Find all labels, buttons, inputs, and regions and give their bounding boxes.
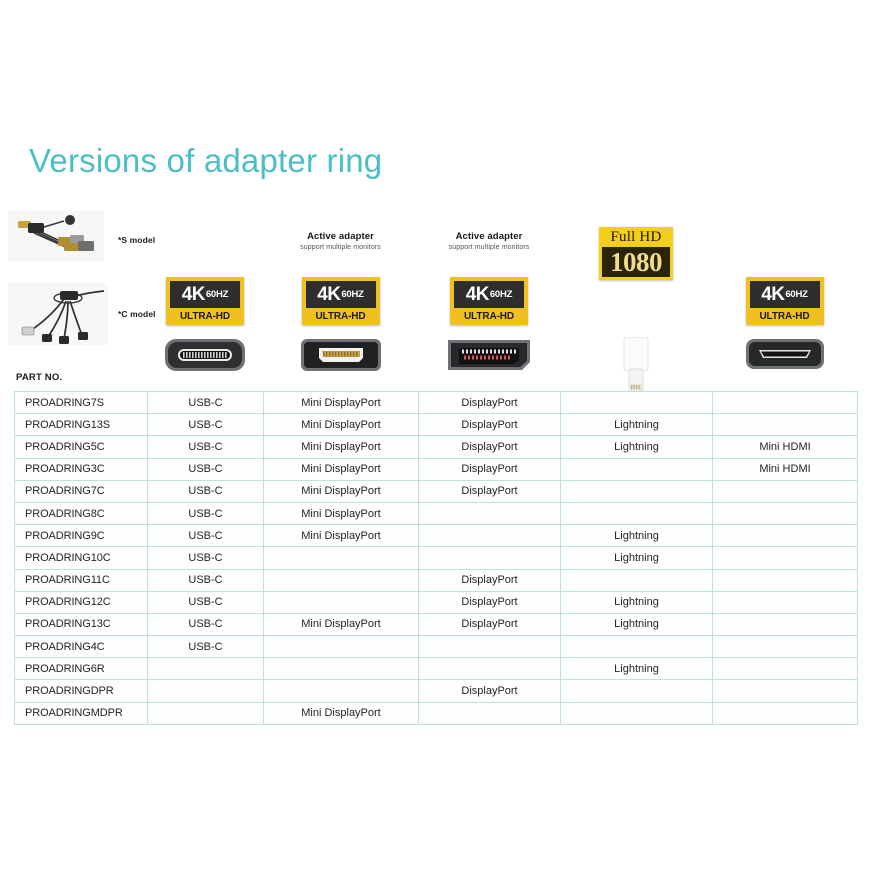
table-cell-dp: DisplayPort: [419, 392, 561, 414]
badge-4k-big: 4K: [317, 285, 340, 304]
table-cell-minihdmi: [713, 480, 858, 502]
table-cell-mdp: Mini DisplayPort: [264, 436, 419, 458]
part-no-header-label: PART NO.: [16, 372, 62, 383]
table-cell-usbc: [148, 702, 264, 724]
table-cell-usbc: USB-C: [148, 569, 264, 591]
table-cell-mdp: Mini DisplayPort: [264, 525, 419, 547]
mini-hdmi-connector-icon: [745, 337, 825, 371]
table-cell-dp: [419, 658, 561, 680]
table-cell-lightning: Lightning: [561, 525, 713, 547]
table-cell-minihdmi: [713, 591, 858, 613]
active-adapter-title-mdp: Active adapter: [263, 231, 418, 242]
badge-ultrahd-label: ULTRA-HD: [170, 308, 240, 325]
table-cell-lightning: [561, 680, 713, 702]
table-cell-lightning: Lightning: [561, 547, 713, 569]
badge-4k-hz: 60HZ: [489, 290, 512, 300]
table-cell-part: PROADRING5C: [15, 436, 148, 458]
table-cell-minihdmi: [713, 547, 858, 569]
table-row: PROADRING3CUSB-CMini DisplayPortDisplayP…: [15, 458, 858, 480]
table-cell-lightning: Lightning: [561, 613, 713, 635]
badge-4k-big: 4K: [182, 285, 205, 304]
table-cell-lightning: Lightning: [561, 436, 713, 458]
table-cell-minihdmi: Mini HDMI: [713, 436, 858, 458]
table-cell-lightning: Lightning: [561, 591, 713, 613]
table-cell-part: PROADRING9C: [15, 525, 148, 547]
table-cell-mdp: Mini DisplayPort: [264, 414, 419, 436]
table-cell-lightning: [561, 392, 713, 414]
table-cell-lightning: [561, 480, 713, 502]
table-cell-dp: DisplayPort: [419, 591, 561, 613]
table-row: PROADRING13CUSB-CMini DisplayPortDisplay…: [15, 613, 858, 635]
table-cell-mdp: [264, 569, 419, 591]
table-cell-minihdmi: [713, 658, 858, 680]
table-cell-dp: DisplayPort: [419, 480, 561, 502]
table-cell-mdp: Mini DisplayPort: [264, 480, 419, 502]
table-cell-mdp: Mini DisplayPort: [264, 392, 419, 414]
badge-4k-ultrahd-dp: 4K60HZ ULTRA-HD: [450, 277, 528, 325]
active-adapter-title-dp: Active adapter: [418, 231, 560, 242]
table-cell-mdp: [264, 680, 419, 702]
column-header-band: *S model *C model 4K60HZ ULTRA-HD: [0, 205, 870, 390]
table-row: PROADRINGMDPRMini DisplayPort: [15, 702, 858, 724]
table-cell-lightning: Lightning: [561, 658, 713, 680]
badge-full-hd-1080: Full HD 1080: [599, 227, 673, 280]
table-cell-mdp: [264, 591, 419, 613]
table-cell-dp: [419, 525, 561, 547]
table-cell-minihdmi: [713, 502, 858, 524]
table-cell-minihdmi: [713, 569, 858, 591]
displayport-connector-icon: [445, 337, 533, 373]
badge-4k-hz: 60HZ: [340, 290, 363, 300]
badge-fullhd-label: Full HD: [602, 228, 670, 247]
active-adapter-sub-dp: support multiple monitors: [418, 244, 560, 251]
table-row: PROADRING7CUSB-CMini DisplayPortDisplayP…: [15, 480, 858, 502]
table-cell-lightning: [561, 636, 713, 658]
table-cell-dp: [419, 502, 561, 524]
table-cell-part: PROADRING13S: [15, 414, 148, 436]
header-column-lightning: Full HD 1080: [560, 205, 712, 390]
table-cell-lightning: [561, 569, 713, 591]
table-cell-usbc: USB-C: [148, 480, 264, 502]
badge-4k-hz: 60HZ: [205, 290, 228, 300]
usb-c-connector-icon: [164, 337, 246, 373]
adapter-spec-table: PROADRING7SUSB-CMini DisplayPortDisplayP…: [14, 391, 858, 725]
table-cell-mdp: Mini DisplayPort: [264, 613, 419, 635]
table-cell-usbc: [148, 680, 264, 702]
table-cell-part: PROADRING3C: [15, 458, 148, 480]
table-row: PROADRING9CUSB-CMini DisplayPortLightnin…: [15, 525, 858, 547]
badge-4k-big: 4K: [466, 285, 489, 304]
table-cell-usbc: USB-C: [148, 458, 264, 480]
table-cell-usbc: USB-C: [148, 636, 264, 658]
badge-4k-big: 4K: [761, 285, 784, 304]
badge-4k-ultrahd-mdp: 4K60HZ ULTRA-HD: [302, 277, 380, 325]
spec-table-wrap: PROADRING7SUSB-CMini DisplayPortDisplayP…: [14, 391, 857, 725]
mini-displayport-connector-icon: [300, 337, 382, 373]
table-row: PROADRING12CUSB-CDisplayPortLightning: [15, 591, 858, 613]
table-cell-part: PROADRING11C: [15, 569, 148, 591]
badge-4k-panel: 4K60HZ: [170, 281, 240, 308]
table-cell-dp: [419, 702, 561, 724]
table-cell-lightning: [561, 702, 713, 724]
table-cell-mdp: [264, 658, 419, 680]
badge-4k-panel: 4K60HZ: [454, 281, 524, 308]
table-cell-part: PROADRING10C: [15, 547, 148, 569]
badge-4k-panel: 4K60HZ: [750, 281, 820, 308]
table-row: PROADRING13SUSB-CMini DisplayPortDisplay…: [15, 414, 858, 436]
table-cell-part: PROADRING6R: [15, 658, 148, 680]
table-cell-minihdmi: Mini HDMI: [713, 458, 858, 480]
table-cell-part: PROADRING13C: [15, 613, 148, 635]
header-column-displayport: Active adapter support multiple monitors…: [418, 205, 560, 390]
table-cell-mdp: [264, 547, 419, 569]
table-cell-dp: DisplayPort: [419, 680, 561, 702]
table-cell-dp: DisplayPort: [419, 458, 561, 480]
table-row: PROADRINGDPRDisplayPort: [15, 680, 858, 702]
badge-4k-hz: 60HZ: [784, 290, 807, 300]
table-cell-part: PROADRINGDPR: [15, 680, 148, 702]
page-title: Versions of adapter ring: [29, 142, 382, 180]
table-cell-part: PROADRINGMDPR: [15, 702, 148, 724]
table-row: PROADRING5CUSB-CMini DisplayPortDisplayP…: [15, 436, 858, 458]
table-cell-usbc: USB-C: [148, 547, 264, 569]
page-root: Versions of adapter ring: [0, 0, 870, 870]
table-cell-usbc: USB-C: [148, 502, 264, 524]
table-cell-usbc: USB-C: [148, 591, 264, 613]
table-cell-usbc: USB-C: [148, 392, 264, 414]
adapter-cable-c-photo: [8, 283, 108, 345]
table-cell-part: PROADRING4C: [15, 636, 148, 658]
table-cell-minihdmi: [713, 702, 858, 724]
table-cell-part: PROADRING8C: [15, 502, 148, 524]
table-cell-dp: DisplayPort: [419, 436, 561, 458]
badge-1080-label: 1080: [602, 247, 670, 277]
badge-4k-ultrahd-usbc: 4K60HZ ULTRA-HD: [166, 277, 244, 325]
table-cell-lightning: Lightning: [561, 414, 713, 436]
table-cell-usbc: USB-C: [148, 613, 264, 635]
table-cell-lightning: [561, 502, 713, 524]
table-cell-usbc: USB-C: [148, 436, 264, 458]
table-cell-minihdmi: [713, 636, 858, 658]
table-row: PROADRING10CUSB-CLightning: [15, 547, 858, 569]
table-cell-minihdmi: [713, 414, 858, 436]
table-row: PROADRING4CUSB-C: [15, 636, 858, 658]
table-cell-minihdmi: [713, 613, 858, 635]
table-cell-dp: DisplayPort: [419, 569, 561, 591]
adapter-cable-s-photo: [8, 211, 104, 261]
table-cell-dp: [419, 547, 561, 569]
badge-4k-panel: 4K60HZ: [306, 281, 376, 308]
active-adapter-sub-mdp: support multiple monitors: [263, 244, 418, 251]
table-cell-lightning: [561, 458, 713, 480]
table-row: PROADRING11CUSB-CDisplayPort: [15, 569, 858, 591]
table-cell-dp: [419, 636, 561, 658]
table-cell-mdp: Mini DisplayPort: [264, 458, 419, 480]
table-cell-part: PROADRING7C: [15, 480, 148, 502]
badge-ultrahd-label: ULTRA-HD: [454, 308, 524, 325]
badge-ultrahd-label: ULTRA-HD: [750, 308, 820, 325]
table-cell-minihdmi: [713, 680, 858, 702]
table-cell-part: PROADRING7S: [15, 392, 148, 414]
table-cell-mdp: [264, 636, 419, 658]
header-column-mini-displayport: Active adapter support multiple monitors…: [263, 205, 418, 390]
table-cell-part: PROADRING12C: [15, 591, 148, 613]
table-row: PROADRING6RLightning: [15, 658, 858, 680]
table-cell-minihdmi: [713, 525, 858, 547]
table-cell-usbc: USB-C: [148, 414, 264, 436]
table-row: PROADRING8CUSB-CMini DisplayPort: [15, 502, 858, 524]
spec-table-body: PROADRING7SUSB-CMini DisplayPortDisplayP…: [15, 392, 858, 725]
table-cell-usbc: USB-C: [148, 525, 264, 547]
table-cell-mdp: Mini DisplayPort: [264, 502, 419, 524]
table-cell-usbc: [148, 658, 264, 680]
table-cell-dp: DisplayPort: [419, 613, 561, 635]
table-row: PROADRING7SUSB-CMini DisplayPortDisplayP…: [15, 392, 858, 414]
badge-4k-ultrahd-minihdmi: 4K60HZ ULTRA-HD: [746, 277, 824, 325]
table-cell-minihdmi: [713, 392, 858, 414]
header-column-mini-hdmi: 4K60HZ ULTRA-HD: [712, 205, 857, 390]
header-column-usbc: 4K60HZ ULTRA-HD: [147, 205, 263, 390]
lightning-connector-icon: [618, 337, 654, 393]
badge-ultrahd-label: ULTRA-HD: [306, 308, 376, 325]
table-cell-mdp: Mini DisplayPort: [264, 702, 419, 724]
table-cell-dp: DisplayPort: [419, 414, 561, 436]
